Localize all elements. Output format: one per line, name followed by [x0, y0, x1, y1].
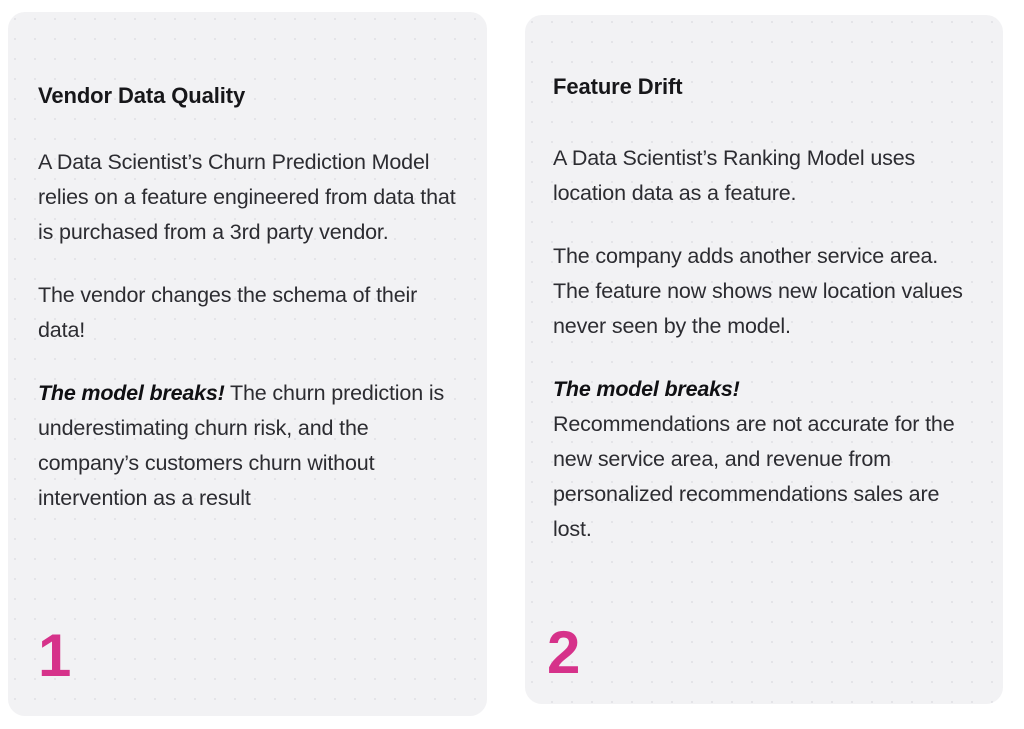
- paragraph-text: The company adds another service area. T…: [553, 244, 963, 338]
- card-paragraph: The company adds another service area. T…: [553, 239, 979, 344]
- card-paragraph-model-breaks: The model breaks! The churn prediction i…: [38, 376, 463, 516]
- card-paragraph: A Data Scientist’s Churn Prediction Mode…: [38, 145, 463, 250]
- card-title: Vendor Data Quality: [38, 82, 463, 110]
- card-feature-drift: Feature Drift A Data Scientist’s Ranking…: [525, 15, 1003, 704]
- card-vendor-data-quality: Vendor Data Quality A Data Scientist’s C…: [8, 12, 487, 716]
- paragraph-text: A Data Scientist’s Churn Prediction Mode…: [38, 150, 456, 244]
- card-paragraph: A Data Scientist’s Ranking Model uses lo…: [553, 141, 979, 211]
- card-body: A Data Scientist’s Ranking Model uses lo…: [553, 141, 979, 547]
- card-body: A Data Scientist’s Churn Prediction Mode…: [38, 145, 463, 516]
- card-title: Feature Drift: [553, 73, 979, 101]
- cards-board: Vendor Data Quality A Data Scientist’s C…: [0, 0, 1024, 729]
- card-paragraph: The vendor changes the schema of their d…: [38, 278, 463, 348]
- paragraph-text: The vendor changes the schema of their d…: [38, 283, 417, 342]
- card-paragraph-model-breaks: The model breaks! Recommendations are no…: [553, 372, 979, 547]
- model-breaks-lede: The model breaks!: [38, 381, 225, 405]
- paragraph-text: A Data Scientist’s Ranking Model uses lo…: [553, 146, 915, 205]
- card-badge-number: 2: [547, 623, 579, 683]
- paragraph-text: Recommendations are not accurate for the…: [553, 412, 955, 541]
- card-badge-number: 1: [38, 626, 70, 686]
- model-breaks-lede: The model breaks!: [553, 372, 979, 407]
